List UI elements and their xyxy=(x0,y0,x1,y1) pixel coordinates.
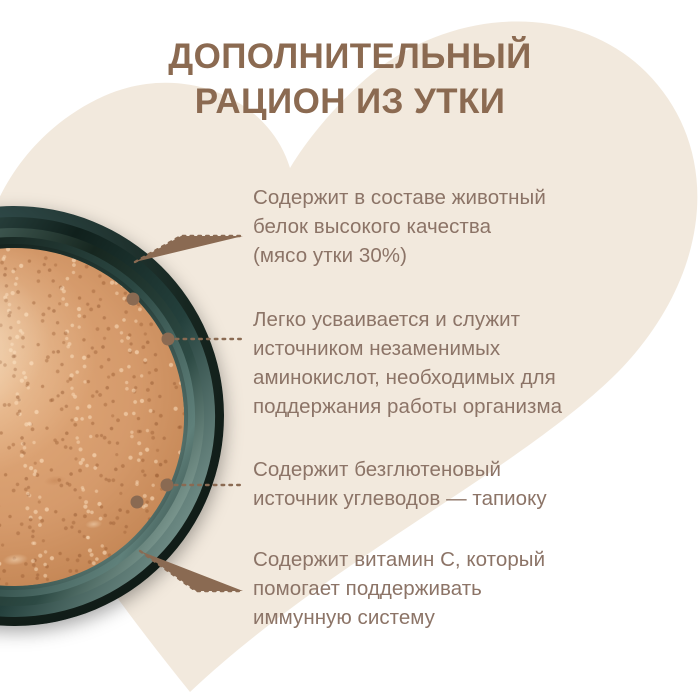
leader-line-4 xyxy=(140,551,243,591)
anchor-dot-4 xyxy=(131,496,144,509)
benefit-text-animal-protein: Содержит в составе животный белок высоко… xyxy=(253,183,653,270)
benefit-text-vitamin-c: Содержит витамин C, который помогает под… xyxy=(253,545,653,632)
benefit-text-amino-acids: Легко усваивается и служит источником не… xyxy=(253,305,653,421)
leader-line-1 xyxy=(135,236,243,262)
page-title: ДОПОЛНИТЕЛЬНЫЙ РАЦИОН ИЗ УТКИ xyxy=(0,34,700,124)
page-title-line-2: РАЦИОН ИЗ УТКИ xyxy=(0,79,700,124)
page-title-line-1: ДОПОЛНИТЕЛЬНЫЙ xyxy=(0,34,700,79)
benefit-text-tapioca: Содержит безглютеновый источник углеводо… xyxy=(253,455,653,513)
anchor-dot-3 xyxy=(161,479,174,492)
poster-canvas: ДОПОЛНИТЕЛЬНЫЙ РАЦИОН ИЗ УТКИ Содержит в… xyxy=(0,0,700,700)
anchor-dot-1 xyxy=(127,293,140,306)
anchor-dot-2 xyxy=(162,333,175,346)
